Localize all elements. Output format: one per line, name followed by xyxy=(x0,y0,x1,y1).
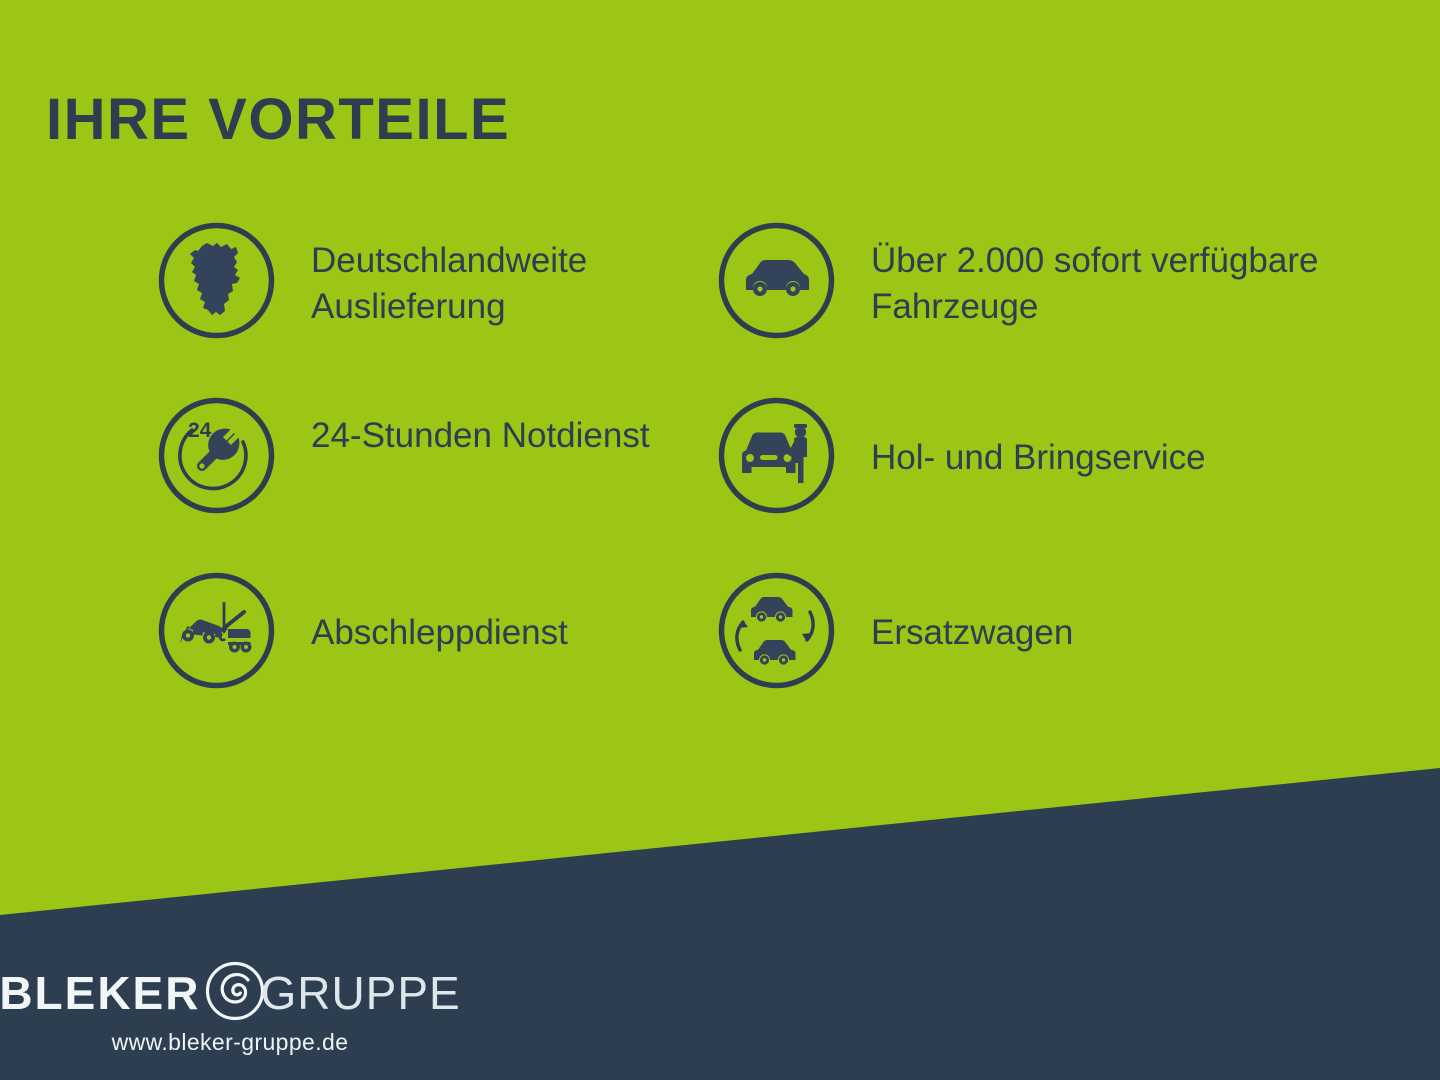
benefit-label: Ersatzwagen xyxy=(871,572,1073,656)
benefit-label: Deutschlandweite Auslieferung xyxy=(311,222,718,330)
car-side-icon xyxy=(718,222,835,339)
brand-logo[interactable]: BLEKER GRUPPE www.bleker-gruppe.de xyxy=(30,963,430,1056)
logo-bleker-text: BLEKER xyxy=(0,970,200,1016)
benefit-label: 24-Stunden Notdienst xyxy=(311,397,650,459)
benefit-label: Abschleppdienst xyxy=(311,572,568,656)
hours-badge-label: 24 xyxy=(188,419,212,442)
tow-truck-icon xyxy=(158,572,275,689)
slide-root: IHRE VORTEILE Deutschlandweite Ausliefer… xyxy=(0,0,1440,1080)
benefit-item-abschleppdienst: Abschleppdienst xyxy=(158,572,718,747)
two-cars-swap-icon xyxy=(718,572,835,689)
benefit-item-deutschlandweite-auslieferung: Deutschlandweite Auslieferung xyxy=(158,222,718,397)
car-front-person-icon xyxy=(718,397,835,514)
benefit-label: Hol- und Bringservice xyxy=(871,397,1206,481)
page-title: IHRE VORTEILE xyxy=(46,86,510,153)
benefit-label: Über 2.000 sofort verfügbare Fahrzeuge xyxy=(871,222,1341,330)
logo-website-url[interactable]: www.bleker-gruppe.de xyxy=(30,1029,430,1056)
logo-gruppe-text: GRUPPE xyxy=(260,970,460,1016)
benefit-item-ersatzwagen: Ersatzwagen xyxy=(718,572,1438,747)
logo-wordmark-row: BLEKER GRUPPE xyxy=(30,963,430,1023)
benefits-grid: Deutschlandweite Auslieferung Über 2.000… xyxy=(0,222,1440,747)
benefit-item-24-stunden-notdienst: 24 24-Stunden Notdienst xyxy=(158,397,718,572)
benefit-item-verfuegbare-fahrzeuge: Über 2.000 sofort verfügbare Fahrzeuge xyxy=(718,222,1438,397)
germany-map-icon xyxy=(158,222,275,339)
benefit-item-hol-und-bringservice: Hol- und Bringservice xyxy=(718,397,1438,572)
clock-24-wrench-icon: 24 xyxy=(158,397,275,514)
spiral-logo-icon xyxy=(204,960,266,1027)
